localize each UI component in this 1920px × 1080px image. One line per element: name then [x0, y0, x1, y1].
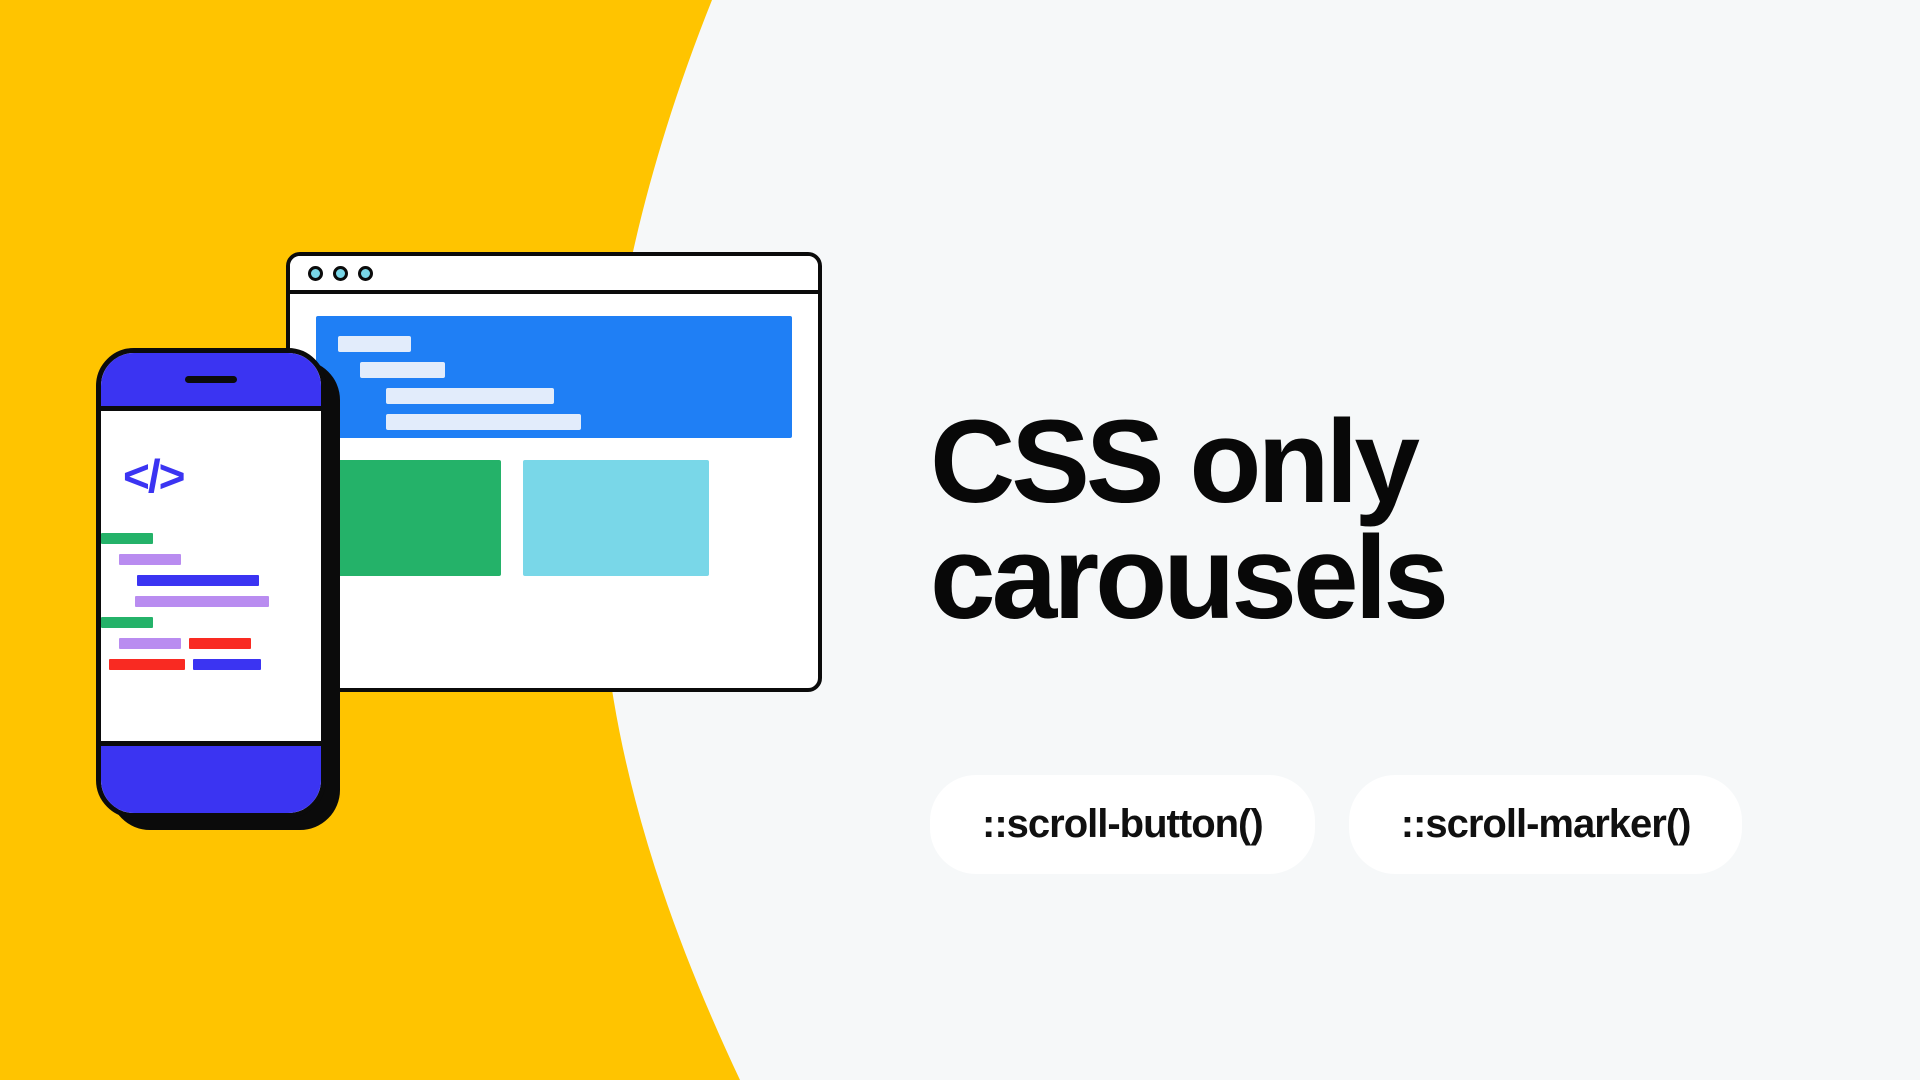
window-dot-close-icon [308, 266, 323, 281]
code-line-segment [119, 638, 181, 649]
code-line-row [101, 617, 321, 638]
browser-hero-banner [316, 316, 792, 438]
phone-home-bar [101, 741, 321, 813]
carousel-card-cyan [523, 460, 709, 576]
code-brackets-icon: </> [123, 453, 321, 499]
code-line-row [101, 554, 321, 575]
phone-earpiece-bar [101, 353, 321, 411]
browser-card-row [316, 460, 792, 576]
code-line-list [101, 533, 321, 680]
code-line-row [101, 575, 321, 596]
code-line-row [101, 638, 321, 659]
hero-text-line [338, 336, 411, 352]
hero-illustration: </> [0, 0, 900, 1080]
code-line-segment [189, 638, 251, 649]
hero-text-line [360, 362, 445, 378]
phone-mockup: </> [96, 348, 326, 818]
code-line-segment [109, 659, 185, 670]
code-line-segment [101, 617, 153, 628]
browser-content [290, 294, 818, 576]
phone-speaker-icon [185, 376, 237, 383]
window-dot-minimize-icon [333, 266, 348, 281]
feature-pill[interactable]: ::scroll-button() [930, 775, 1315, 874]
page-title: CSS only carousels [930, 405, 1690, 636]
feature-pill[interactable]: ::scroll-marker() [1349, 775, 1743, 874]
browser-window-mockup [286, 252, 822, 692]
hero-text-line [386, 388, 554, 404]
code-line-segment [137, 575, 259, 586]
carousel-card-green [316, 460, 501, 576]
page-title-line-2: carousels [930, 512, 1445, 644]
code-line-segment [101, 533, 153, 544]
code-line-segment [135, 596, 269, 607]
code-line-row [101, 596, 321, 617]
window-dot-maximize-icon [358, 266, 373, 281]
code-line-segment [193, 659, 261, 670]
code-line-segment [119, 554, 181, 565]
hero-text-line [386, 414, 581, 430]
feature-pill-list: ::scroll-button()::scroll-marker() [930, 775, 1742, 874]
code-line-row [101, 533, 321, 554]
code-line-row [101, 659, 321, 680]
page-title-line-1: CSS only [930, 396, 1416, 528]
browser-titlebar [290, 256, 818, 294]
phone-screen: </> [101, 411, 321, 741]
content-panel: CSS only carousels ::scroll-button()::sc… [930, 0, 1920, 1080]
